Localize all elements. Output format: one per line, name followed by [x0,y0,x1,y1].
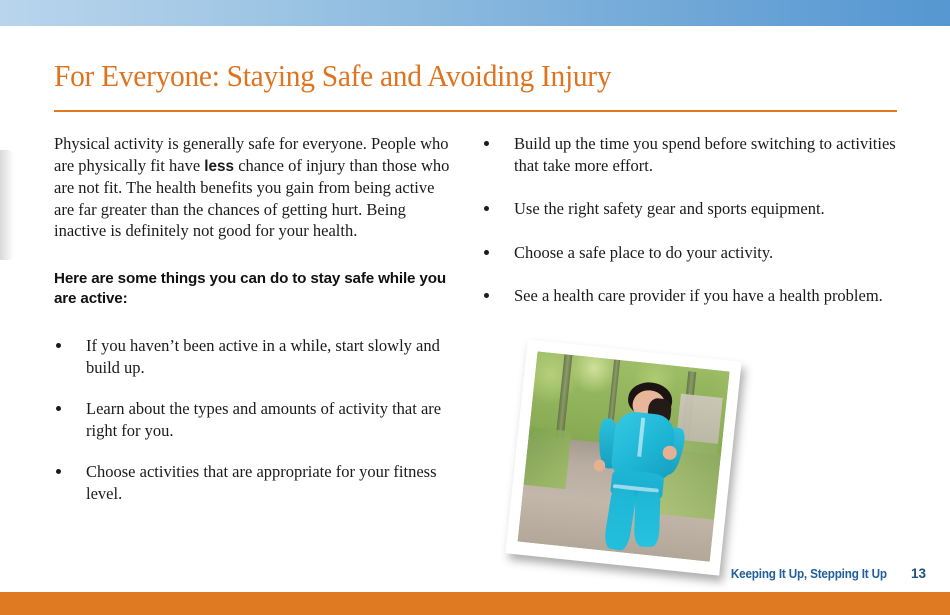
left-bullet-list: If you haven’t been active in a while, s… [54,335,454,505]
list-item-text: Choose a safe place to do your activity. [514,243,773,262]
bullet-dot-icon [484,250,489,255]
bullet-dot-icon [56,469,61,474]
photo-person-leg-right [634,491,661,547]
list-item-text: Build up the time you spend before switc… [514,134,896,175]
list-item: Learn about the types and amounts of act… [54,398,454,441]
list-item-text: Choose activities that are appropriate f… [86,462,437,503]
intro-paragraph: Physical activity is generally safe for … [54,133,454,242]
list-item-text: Learn about the types and amounts of act… [86,399,441,440]
photo-image [518,351,730,561]
bullet-dot-icon [484,293,489,298]
bullet-dot-icon [484,141,489,146]
right-column: Build up the time you spend before switc… [482,133,902,329]
list-item: Choose activities that are appropriate f… [54,461,454,504]
list-item: See a health care provider if you have a… [482,285,902,307]
page-title: For Everyone: Staying Safe and Avoiding … [54,58,858,94]
top-blue-banner [0,0,950,26]
photo-grass-left [524,427,572,488]
page-canvas: For Everyone: Staying Safe and Avoiding … [0,0,950,615]
bottom-orange-bar [0,592,950,615]
list-item-text: If you haven’t been active in a while, s… [86,336,440,377]
right-bullet-list: Build up the time you spend before switc… [482,133,902,307]
list-item: If you haven’t been active in a while, s… [54,335,454,378]
list-item-text: See a health care provider if you have a… [514,286,883,305]
photo-walking-woman [505,339,741,575]
list-item-text: Use the right safety gear and sports equ… [514,199,825,218]
title-block: For Everyone: Staying Safe and Avoiding … [54,58,900,94]
bullet-dot-icon [56,343,61,348]
left-column: Physical activity is generally safe for … [54,133,454,525]
photo-frame [505,339,741,575]
footer-book-title: Keeping It Up, Stepping It Up [731,567,887,581]
safety-subheading: Here are some things you can do to stay … [54,269,454,309]
footer-page-number: 13 [911,566,926,581]
list-item: Use the right safety gear and sports equ… [482,198,902,220]
list-item: Choose a safe place to do your activity. [482,242,902,264]
footer: Keeping It Up, Stepping It Up 13 [725,566,926,581]
title-divider-rule [54,110,897,112]
bullet-dot-icon [484,206,489,211]
bullet-dot-icon [56,406,61,411]
list-item: Build up the time you spend before switc… [482,133,902,176]
page-edge-shadow [0,150,14,260]
intro-emphasis-less: less [204,158,234,175]
photo-person-hand-right [662,445,677,460]
